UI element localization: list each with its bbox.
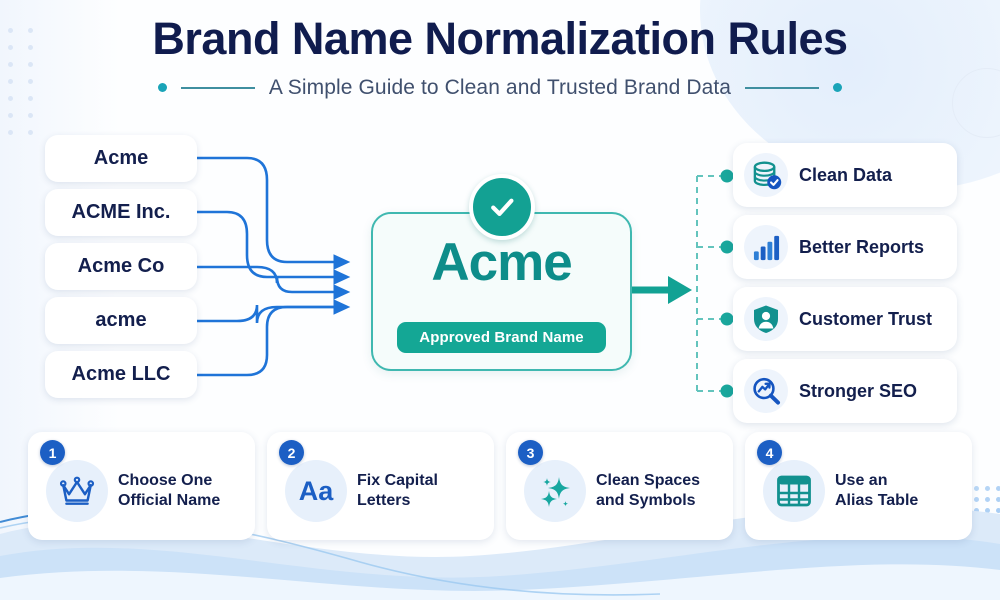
rule-number-badge: 3 bbox=[518, 440, 543, 465]
check-circle-icon bbox=[469, 174, 535, 240]
benefit-label: Better Reports bbox=[799, 237, 924, 258]
subtitle-dot-right-icon bbox=[833, 83, 842, 92]
rule-label-line2: Alias Table bbox=[835, 492, 918, 509]
benefit-card-better-reports[interactable]: Better Reports bbox=[733, 215, 957, 279]
rule-label-line1: Choose One bbox=[118, 472, 212, 489]
rule-card-fix-capital-letters[interactable]: 2 Aa Fix Capital Letters bbox=[267, 432, 494, 540]
crown-icon bbox=[46, 460, 108, 522]
rule-card-clean-spaces-and-symbols[interactable]: 3 Clean Spaces and Symbols bbox=[506, 432, 733, 540]
rule-label: Clean Spaces and Symbols bbox=[596, 471, 700, 511]
page-title: Brand Name Normalization Rules bbox=[0, 14, 1000, 64]
rule-card-choose-one-official-name[interactable]: 1 Choose One Official Name bbox=[28, 432, 255, 540]
rule-label-line1: Fix Capital bbox=[357, 472, 438, 489]
shield-person-icon bbox=[744, 297, 788, 341]
sparkles-icon bbox=[524, 460, 586, 522]
rule-label: Fix Capital Letters bbox=[357, 471, 438, 511]
rule-label-line2: Official Name bbox=[118, 492, 220, 509]
magnifier-trend-icon bbox=[744, 369, 788, 413]
benefit-card-stronger-seo[interactable]: Stronger SEO bbox=[733, 359, 957, 423]
rule-label-line1: Clean Spaces bbox=[596, 472, 700, 489]
brand-variants-list: Acme ACME Inc. Acme Co acme Acme LLC bbox=[45, 135, 197, 405]
rule-number-badge: 1 bbox=[40, 440, 65, 465]
variant-label: Acme Co bbox=[78, 255, 165, 278]
variant-label: acme bbox=[95, 309, 146, 332]
wire-variant-5 bbox=[197, 307, 336, 375]
subtitle-rule-right bbox=[745, 87, 819, 89]
bar-chart-icon bbox=[744, 225, 788, 269]
table-icon bbox=[763, 460, 825, 522]
benefit-dashed-spine bbox=[697, 176, 726, 391]
variant-card[interactable]: Acme bbox=[45, 135, 197, 182]
page-subtitle: A Simple Guide to Clean and Trusted Bran… bbox=[269, 76, 731, 100]
variant-card[interactable]: Acme LLC bbox=[45, 351, 197, 398]
letter-case-icon: Aa bbox=[285, 460, 347, 522]
rule-label: Use an Alias Table bbox=[835, 471, 918, 511]
rule-label: Choose One Official Name bbox=[118, 471, 220, 511]
canonical-brand-name: Acme bbox=[373, 236, 630, 289]
svg-text:Aa: Aa bbox=[299, 476, 334, 506]
variant-label: Acme LLC bbox=[72, 363, 171, 386]
rule-label-line1: Use an bbox=[835, 472, 887, 489]
variant-label: Acme bbox=[94, 147, 148, 170]
variant-card[interactable]: Acme Co bbox=[45, 243, 197, 290]
rules-row: 1 Choose One Official Name 2 Aa bbox=[28, 432, 972, 540]
rule-card-use-an-alias-table[interactable]: 4 Use an Alias Table bbox=[745, 432, 972, 540]
benefit-dots bbox=[721, 170, 734, 398]
subtitle-dot-left-icon bbox=[158, 83, 167, 92]
benefit-card-clean-data[interactable]: Clean Data bbox=[733, 143, 957, 207]
benefits-list: Clean Data Better Reports bbox=[733, 143, 957, 431]
infographic-canvas: Brand Name Normalization Rules A Simple … bbox=[0, 0, 1000, 600]
wire-variant-1 bbox=[197, 158, 336, 262]
rule-number-badge: 2 bbox=[279, 440, 304, 465]
variant-card[interactable]: ACME Inc. bbox=[45, 189, 197, 236]
header: Brand Name Normalization Rules A Simple … bbox=[0, 14, 1000, 100]
rule-label-line2: Letters bbox=[357, 492, 410, 509]
wire-variant-3 bbox=[197, 267, 336, 292]
database-check-icon bbox=[744, 153, 788, 197]
variant-card[interactable]: acme bbox=[45, 297, 197, 344]
benefit-label: Clean Data bbox=[799, 165, 892, 186]
output-arrow-icon bbox=[632, 276, 692, 304]
subtitle-row: A Simple Guide to Clean and Trusted Bran… bbox=[0, 76, 1000, 100]
benefit-label: Customer Trust bbox=[799, 309, 932, 330]
benefit-card-customer-trust[interactable]: Customer Trust bbox=[733, 287, 957, 351]
canonical-brand-card[interactable]: Acme Approved Brand Name bbox=[371, 212, 632, 371]
approved-brand-pill: Approved Brand Name bbox=[397, 322, 606, 353]
variant-label: ACME Inc. bbox=[72, 201, 171, 224]
rule-label-line2: and Symbols bbox=[596, 492, 696, 509]
rule-number-badge: 4 bbox=[757, 440, 782, 465]
benefit-label: Stronger SEO bbox=[799, 381, 917, 402]
subtitle-rule-left bbox=[181, 87, 255, 89]
approved-brand-pill-label: Approved Brand Name bbox=[419, 329, 583, 346]
